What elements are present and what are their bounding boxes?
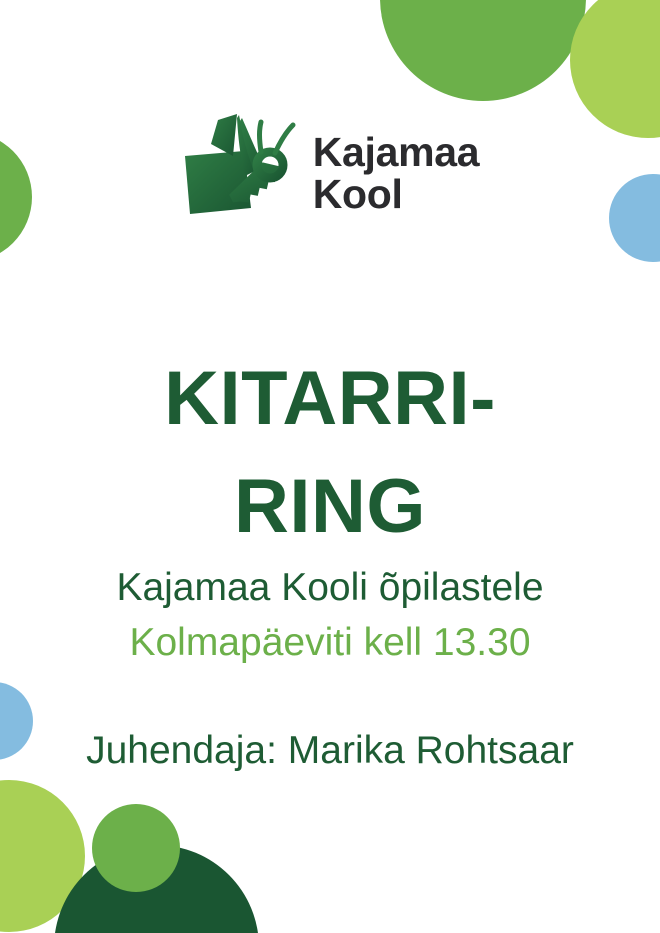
audience-line: Kajamaa Kooli õpilastele xyxy=(0,560,660,615)
body-copy: Kajamaa Kooli õpilastele Kolmapäeviti ke… xyxy=(0,560,660,778)
open-book-with-key-icon xyxy=(181,112,299,234)
circle-top-green xyxy=(380,0,586,101)
circle-bottom-dark xyxy=(54,845,259,933)
circle-bottom-green xyxy=(92,804,180,892)
spacer xyxy=(0,671,660,723)
instructor-line: Juhendaja: Marika Rohtsaar xyxy=(0,723,660,778)
poster-canvas: Kajamaa Kool KITARRI- RING Kajamaa Kooli… xyxy=(0,0,660,933)
logo-wordmark: Kajamaa Kool xyxy=(313,131,480,215)
schedule-line: Kolmapäeviti kell 13.30 xyxy=(0,615,660,670)
logo: Kajamaa Kool xyxy=(0,112,660,234)
circle-bottom-left-light xyxy=(0,780,85,932)
page-title: KITARRI- RING xyxy=(0,345,660,561)
